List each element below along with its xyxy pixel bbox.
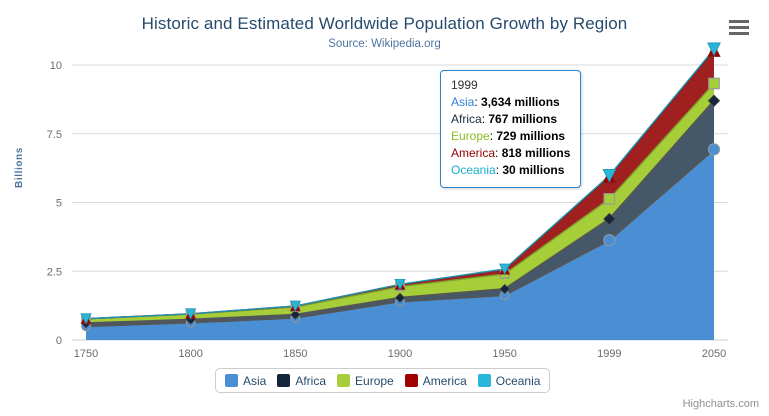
legend-swatch-icon [225, 374, 238, 387]
svg-text:1800: 1800 [178, 348, 202, 360]
legend-swatch-icon [337, 374, 350, 387]
svg-text:0: 0 [56, 335, 62, 347]
highcharts-credits[interactable]: Highcharts.com [683, 398, 759, 410]
svg-text:7.5: 7.5 [47, 129, 62, 141]
legend-swatch-icon [478, 374, 491, 387]
legend-item-africa[interactable]: Africa [277, 374, 326, 388]
svg-text:10: 10 [50, 60, 62, 72]
chart-legend: AsiaAfricaEuropeAmericaOceania [215, 368, 550, 393]
x-tick-labels: 1750180018501900195019992050 [74, 348, 726, 360]
highcharts-container: Historic and Estimated Worldwide Populat… [0, 0, 769, 416]
legend-label: Asia [243, 374, 266, 388]
legend-item-oceania[interactable]: Oceania [478, 374, 541, 388]
svg-text:1900: 1900 [388, 348, 412, 360]
legend-item-asia[interactable]: Asia [225, 374, 266, 388]
legend-label: Oceania [496, 374, 541, 388]
legend-label: Africa [295, 374, 326, 388]
legend-label: Europe [355, 374, 394, 388]
svg-text:1850: 1850 [283, 348, 307, 360]
legend-item-europe[interactable]: Europe [337, 374, 394, 388]
svg-text:2050: 2050 [702, 348, 726, 360]
svg-text:1750: 1750 [74, 348, 98, 360]
plot-area: 02.557.510 1750180018501900195019992050 [0, 0, 769, 416]
svg-text:1999: 1999 [597, 348, 621, 360]
svg-text:2.5: 2.5 [47, 266, 62, 278]
legend-swatch-icon [405, 374, 418, 387]
svg-text:1950: 1950 [492, 348, 516, 360]
legend-label: America [423, 374, 467, 388]
svg-text:5: 5 [56, 198, 62, 210]
y-tick-labels: 02.557.510 [47, 60, 62, 347]
legend-item-america[interactable]: America [405, 374, 467, 388]
legend-swatch-icon [277, 374, 290, 387]
